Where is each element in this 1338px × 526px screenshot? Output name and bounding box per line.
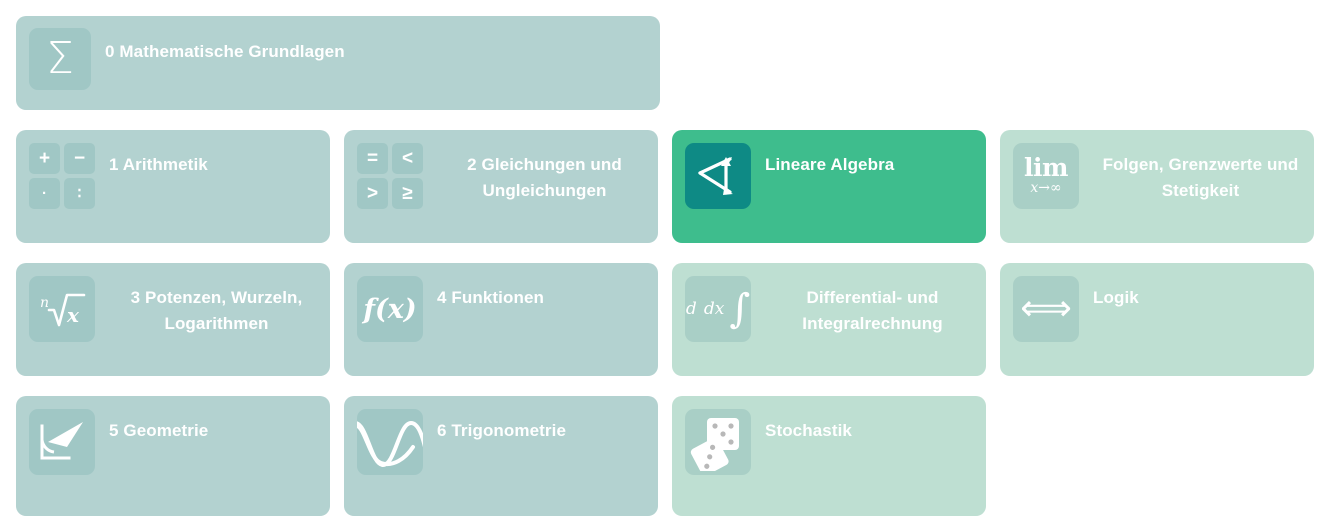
operator-greater-than-icon: > xyxy=(357,178,388,209)
topic-card-label: Folgen, Grenzwerte und Stetigkeit xyxy=(1093,152,1308,205)
topic-card-label: 0 Mathematische Grundlagen xyxy=(105,39,345,65)
operator-minus-icon: − xyxy=(64,143,95,174)
topic-card-geometrie[interactable]: 5 Geometrie xyxy=(16,396,330,516)
derivative-integral-icon: d dx ∫ xyxy=(685,276,751,342)
topic-card-grundlagen[interactable]: Σ 0 Mathematische Grundlagen xyxy=(16,16,660,110)
topic-card-label: 4 Funktionen xyxy=(437,285,544,311)
svg-text:n: n xyxy=(40,295,49,311)
topic-card-arithmetik[interactable]: + − · ∶ 1 Arithmetik xyxy=(16,130,330,243)
topic-card-label: 6 Trigonometrie xyxy=(437,418,566,444)
nth-root-icon: n x xyxy=(29,276,95,342)
svg-text:x: x xyxy=(66,303,80,327)
operator-plus-icon: + xyxy=(29,143,60,174)
topic-card-lineare-algebra[interactable]: Lineare Algebra xyxy=(672,130,986,243)
integral-glyph: ∫ xyxy=(729,293,750,325)
function-glyph: f(x) xyxy=(363,296,416,323)
topic-card-label: Logik xyxy=(1093,285,1139,311)
fraction-numerator: d xyxy=(686,299,697,319)
arithmetic-operators-icon: + − · ∶ xyxy=(29,143,95,209)
topic-row-3: n x 3 Potenzen, Wurzeln, Logarithmen f(x… xyxy=(16,263,1322,376)
topic-row-4: 5 Geometrie 6 Trigonometrie xyxy=(16,396,1322,516)
topic-card-label: Lineare Algebra xyxy=(765,152,894,178)
fraction-denominator: dx xyxy=(704,299,724,319)
topic-grid: Σ 0 Mathematische Grundlagen + − · ∶ 1 A… xyxy=(0,0,1338,526)
topic-card-logik[interactable]: ⟺ Logik xyxy=(1000,263,1314,376)
operator-equals-icon: = xyxy=(357,143,388,174)
comparison-operators-icon: = < > ≥ xyxy=(357,143,423,209)
derivative-fraction: d dx xyxy=(686,299,724,319)
topic-card-trigonometrie[interactable]: 6 Trigonometrie xyxy=(344,396,658,516)
vectors-icon xyxy=(685,143,751,209)
limit-lim-text: lim xyxy=(1024,156,1068,180)
operator-greater-equal-icon: ≥ xyxy=(392,178,423,209)
limit-approach-text: x→∞ xyxy=(1024,180,1068,196)
topic-card-potenzen[interactable]: n x 3 Potenzen, Wurzeln, Logarithmen xyxy=(16,263,330,376)
topic-card-label: 2 Gleichungen und Ungleichungen xyxy=(437,152,652,205)
operator-multiply-icon: · xyxy=(29,178,60,209)
biconditional-glyph: ⟺ xyxy=(1020,291,1072,327)
topic-card-label: Differential- und Integralrechnung xyxy=(765,285,980,338)
topic-card-folgen-grenzwerte[interactable]: lim x→∞ Folgen, Grenzwerte und Stetigkei… xyxy=(1000,130,1314,243)
topic-card-differential-integral[interactable]: d dx ∫ Differential- und Integralrechnun… xyxy=(672,263,986,376)
dice-icon xyxy=(685,409,751,475)
operator-divide-icon: ∶ xyxy=(64,178,95,209)
topic-card-label: 3 Potenzen, Wurzeln, Logarithmen xyxy=(109,285,324,338)
limit-icon: lim x→∞ xyxy=(1013,143,1079,209)
angle-geometry-icon xyxy=(29,409,95,475)
topic-card-label: Stochastik xyxy=(765,418,852,444)
operator-less-than-icon: < xyxy=(392,143,423,174)
sine-wave-icon xyxy=(357,409,423,475)
topic-row-1: Σ 0 Mathematische Grundlagen xyxy=(16,16,1322,110)
limit-notation: lim x→∞ xyxy=(1024,156,1068,196)
sigma-icon: Σ xyxy=(29,28,91,90)
topic-card-stochastik[interactable]: Stochastik xyxy=(672,396,986,516)
sigma-glyph: Σ xyxy=(46,37,74,81)
topic-card-gleichungen[interactable]: = < > ≥ 2 Gleichungen und Ungleichungen xyxy=(344,130,658,243)
topic-row-2: + − · ∶ 1 Arithmetik = < > ≥ 2 Gleichung… xyxy=(16,130,1322,243)
function-icon: f(x) xyxy=(357,276,423,342)
topic-card-funktionen[interactable]: f(x) 4 Funktionen xyxy=(344,263,658,376)
biconditional-arrow-icon: ⟺ xyxy=(1013,276,1079,342)
topic-card-label: 5 Geometrie xyxy=(109,418,208,444)
topic-card-label: 1 Arithmetik xyxy=(109,152,208,178)
